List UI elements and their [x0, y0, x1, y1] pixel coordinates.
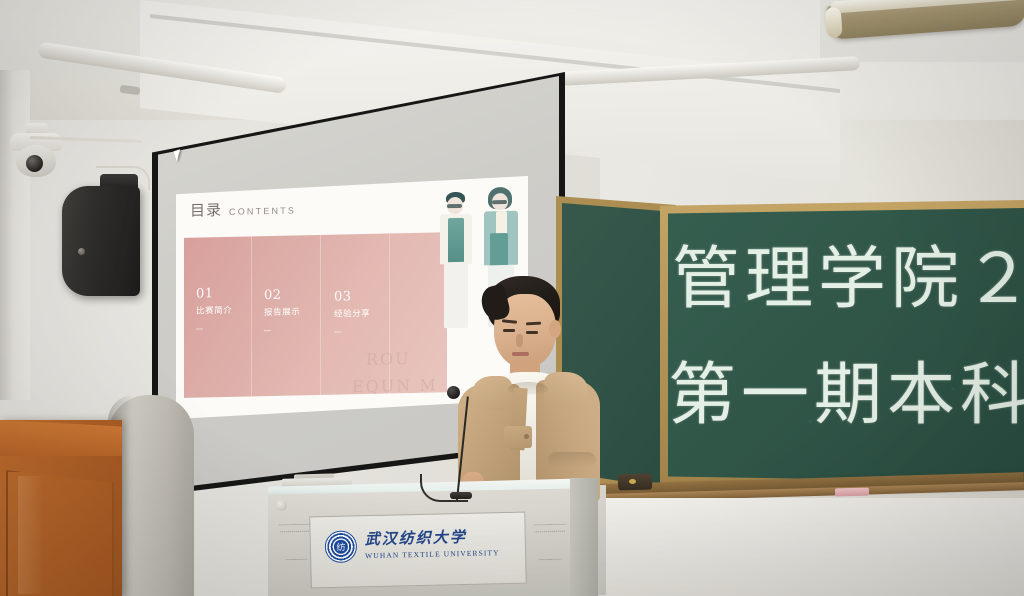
toc-dash: [264, 329, 271, 330]
podium-knob[interactable]: [276, 500, 287, 511]
speaker-screw: [78, 248, 85, 255]
toc-entry-01: 01 比赛简介: [196, 287, 232, 329]
slide-title: 目录 CONTENTS: [190, 197, 296, 220]
student-presenter: [452, 276, 602, 501]
toc-label: 比赛简介: [196, 307, 232, 316]
camera-lens: [26, 155, 43, 172]
presenter-mouth: [512, 352, 529, 356]
presenter-hood-left: [472, 376, 512, 410]
presenter-eye-right: [526, 331, 538, 334]
presenter-sleeve-fold: [548, 452, 596, 468]
podium-nameplate: 纺 武汉纺织大学 WUHAN TEXTILE UNIVERSITY: [309, 512, 527, 589]
blackboard-text-line-1: 管理学院２: [672, 246, 1024, 314]
toc-dash: [196, 328, 203, 329]
band-divider: [389, 233, 390, 393]
toc-number: 01: [196, 287, 232, 301]
cabinet-highlight: [18, 476, 44, 594]
wall-speaker: [62, 186, 140, 296]
wall-wainscot: [600, 498, 1024, 596]
toc-dash: [334, 331, 341, 332]
presenter-jacket-button: [524, 434, 529, 439]
toc-number: 03: [334, 290, 370, 304]
microphone-base: [450, 492, 472, 499]
slide-watermark-line1: ROU: [366, 349, 411, 369]
slide-title-cn: 目录: [190, 199, 222, 221]
toc-label: 报告展示: [264, 308, 300, 317]
microphone-head[interactable]: [447, 386, 460, 399]
podium-side: [570, 478, 598, 596]
toc-label: 经验分享: [334, 310, 370, 319]
chalk-tray-screw: [629, 479, 636, 484]
university-name-en: WUHAN TEXTILE UNIVERSITY: [365, 548, 500, 560]
slide-watermark-line2: EQUN M: [352, 375, 438, 396]
chalk-eraser[interactable]: [835, 488, 869, 497]
emblem-glyph: 纺: [336, 540, 345, 553]
left-wall-shadow: [0, 70, 14, 400]
presenter-eye-left: [503, 329, 515, 332]
university-name-cn: 武汉纺织大学: [365, 529, 500, 547]
university-emblem-icon: 纺: [325, 530, 358, 563]
band-divider: [251, 236, 252, 396]
band-divider: [320, 235, 321, 395]
blackboard-text-line-2: 第一期本科: [668, 362, 1024, 430]
presenter-ear: [549, 320, 561, 338]
classroom-photo: 目录 CONTENTS 01 比赛简介 02 报告展示 03 经验分享: [0, 0, 1024, 596]
slide-title-en: CONTENTS: [229, 205, 296, 216]
light-end-cap: [825, 7, 843, 38]
toc-entry-02: 02 报告展示: [264, 288, 300, 330]
toc-number: 02: [264, 288, 300, 302]
presenter-nose: [516, 334, 523, 347]
toc-entry-03: 03 经验分享: [334, 290, 370, 332]
presenter-hood-right: [544, 372, 588, 408]
